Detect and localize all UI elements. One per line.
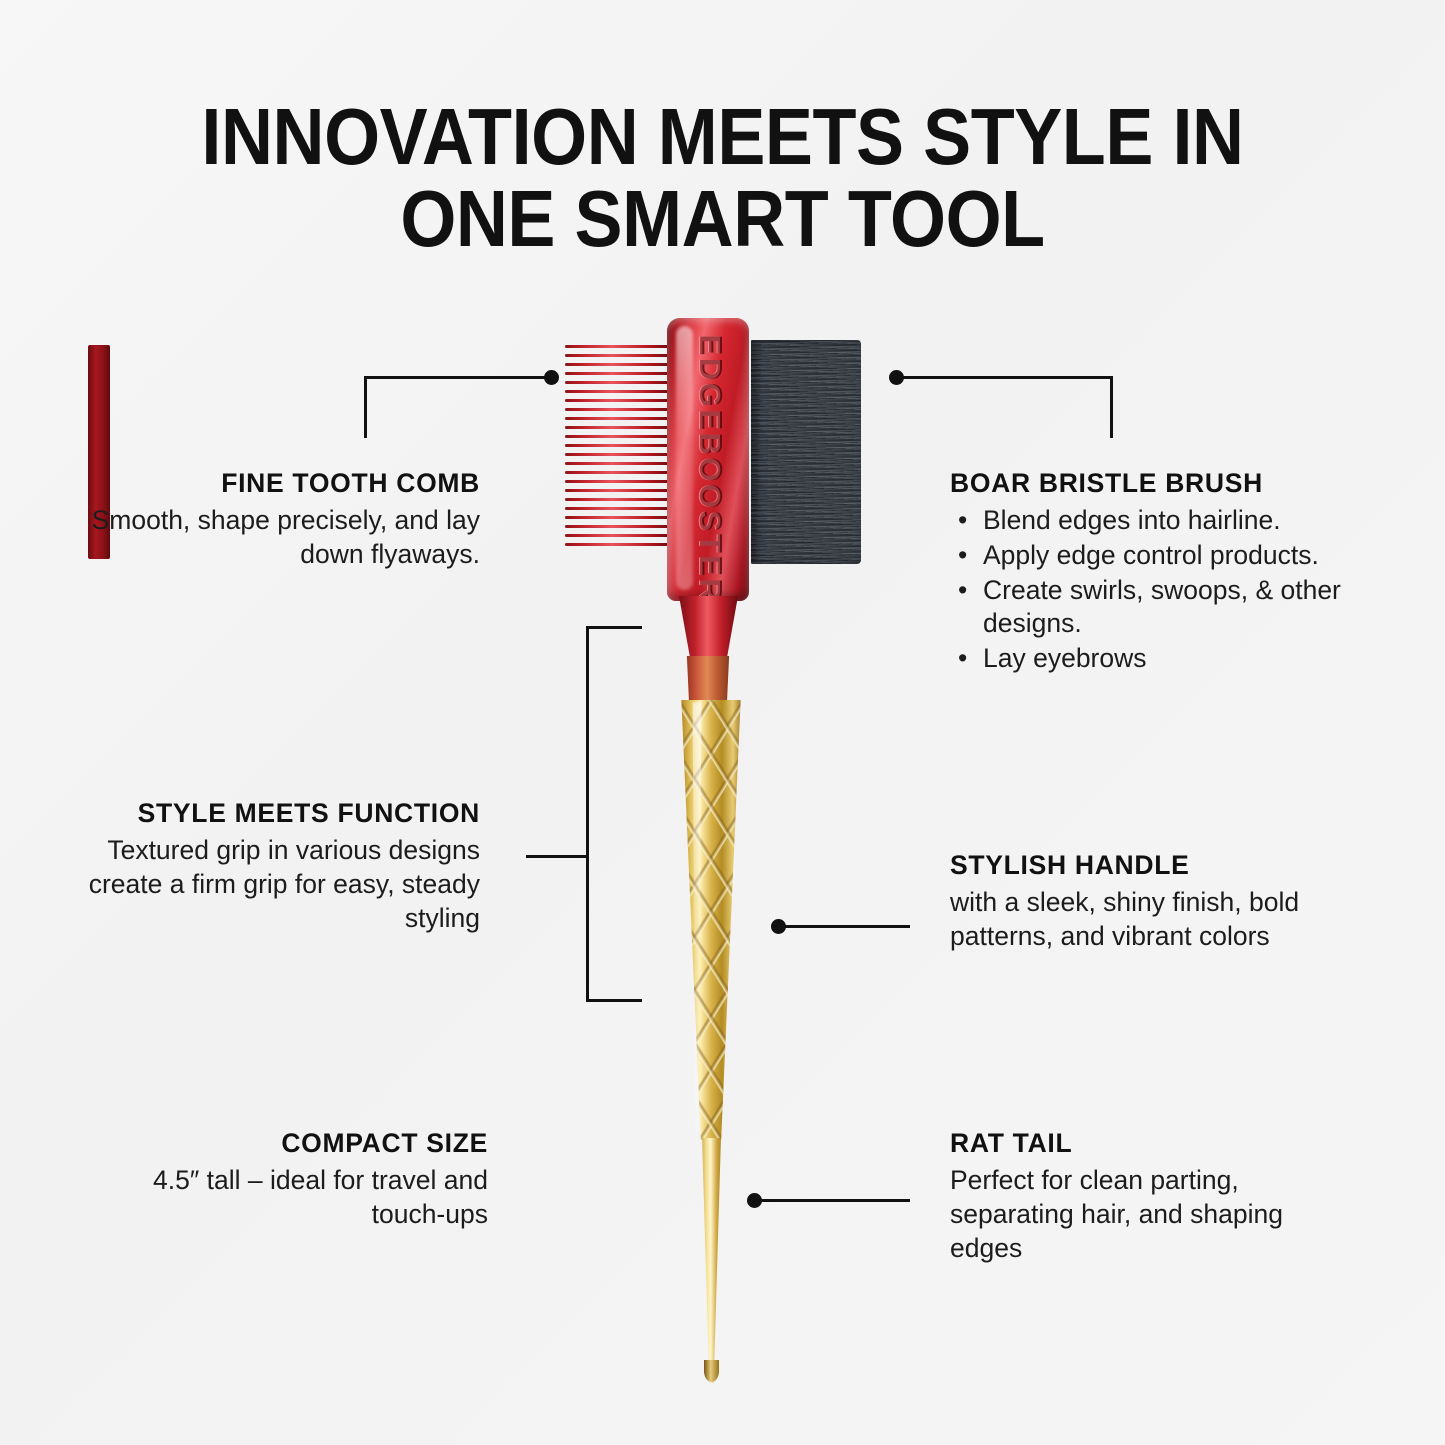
head-highlight <box>676 326 693 590</box>
list-item: • Create swirls, swoops, & other designs… <box>950 574 1370 642</box>
comb-tooth <box>565 462 670 465</box>
callout-heading-stylish-handle: STYLISH HANDLE <box>950 850 1350 881</box>
comb-tooth <box>565 525 670 528</box>
list-item: • Apply edge control products. <box>950 539 1370 573</box>
callout-rat-tail: RAT TAIL Perfect for clean parting, sepa… <box>950 1128 1310 1265</box>
comb-tooth <box>565 399 670 402</box>
handle-neck-upper <box>679 596 738 662</box>
list-item-label: Create swirls, swoops, & other designs. <box>983 575 1341 639</box>
comb-tooth <box>565 390 670 393</box>
page-title: INNOVATION MEETS STYLE IN ONE SMART TOOL <box>72 96 1373 259</box>
leader-bracket-stem-grip <box>526 855 588 858</box>
rat-tail-tip <box>704 1360 719 1382</box>
comb-tooth <box>565 345 670 348</box>
callout-body-rat-tail: Perfect for clean parting, separating ha… <box>950 1164 1310 1266</box>
comb-tooth <box>565 543 670 546</box>
callout-body-fine-tooth-comb: Smooth, shape precisely, and lay down fl… <box>60 504 480 572</box>
callout-bullet-list-boar-bristle-brush: • Blend edges into hairline. • Apply edg… <box>950 504 1370 677</box>
list-item-label: Blend edges into hairline. <box>983 505 1281 535</box>
list-item: • Lay eyebrows <box>950 642 1370 676</box>
comb-tooth <box>565 408 670 411</box>
leader-bracket-spine-grip <box>586 626 589 1002</box>
handle-neck-lower <box>684 656 732 718</box>
bullet-icon: • <box>958 574 967 608</box>
callout-heading-boar-bristle-brush: BOAR BRISTLE BRUSH <box>950 468 1370 499</box>
callout-fine-tooth-comb: FINE TOOTH COMB Smooth, shape precisely,… <box>60 468 480 572</box>
comb-tooth <box>565 381 670 384</box>
brand-logo-text: EDGEBOOSTER <box>688 327 728 611</box>
leader-line-brush-vertical <box>1110 376 1113 438</box>
fine-tooth-comb-teeth <box>565 345 670 553</box>
comb-tooth <box>565 417 670 420</box>
comb-tooth <box>565 426 670 429</box>
handle-diamond-pattern <box>672 700 750 1140</box>
title-line-2: ONE SMART TOOL <box>72 178 1373 260</box>
comb-tooth <box>565 372 670 375</box>
comb-tooth <box>565 534 670 537</box>
callout-body-stylish-handle: with a sleek, shiny finish, bold pattern… <box>950 886 1350 954</box>
leader-line-rat-tail <box>754 1199 910 1202</box>
callout-heading-fine-tooth-comb: FINE TOOTH COMB <box>60 468 480 499</box>
comb-tooth <box>565 489 670 492</box>
callout-compact-size: COMPACT SIZE 4.5″ tall – ideal for trave… <box>140 1128 488 1232</box>
comb-tooth <box>565 480 670 483</box>
comb-tooth <box>565 363 670 366</box>
list-item-label: Lay eyebrows <box>983 643 1147 673</box>
title-line-1: INNOVATION MEETS STYLE IN <box>201 92 1243 181</box>
comb-tooth <box>565 507 670 510</box>
leader-line-comb-vertical <box>364 376 367 438</box>
handle-shaft <box>672 700 750 1140</box>
brush-head-body: EDGEBOOSTER <box>667 318 749 601</box>
bullet-icon: • <box>958 642 967 676</box>
callout-heading-style-meets-function: STYLE MEETS FUNCTION <box>56 798 480 829</box>
callout-stylish-handle: STYLISH HANDLE with a sleek, shiny finis… <box>950 850 1350 954</box>
leader-bracket-bottom-grip <box>586 999 642 1002</box>
callout-style-meets-function: STYLE MEETS FUNCTION Textured grip in va… <box>56 798 480 935</box>
list-item: • Blend edges into hairline. <box>950 504 1370 538</box>
comb-tooth <box>565 354 670 357</box>
comb-tooth <box>565 435 670 438</box>
infographic-canvas: INNOVATION MEETS STYLE IN ONE SMART TOOL… <box>0 0 1445 1445</box>
leader-line-brush-horizontal <box>896 376 1112 379</box>
bullet-icon: • <box>958 504 967 538</box>
leader-line-handle <box>778 925 910 928</box>
rat-tail-point <box>690 1138 733 1383</box>
leader-line-comb-horizontal <box>364 376 548 379</box>
comb-tooth <box>565 453 670 456</box>
callout-body-compact-size: 4.5″ tall – ideal for travel and touch-u… <box>140 1164 488 1232</box>
comb-tooth <box>565 516 670 519</box>
leader-bracket-top-grip <box>586 626 642 629</box>
comb-tooth <box>565 444 670 447</box>
boar-bristle-tuft <box>751 340 861 564</box>
list-item-label: Apply edge control products. <box>983 540 1319 570</box>
bullet-icon: • <box>958 539 967 573</box>
comb-tooth <box>565 471 670 474</box>
callout-body-style-meets-function: Textured grip in various designs create … <box>56 834 480 936</box>
callout-heading-compact-size: COMPACT SIZE <box>140 1128 488 1159</box>
handle-highlight <box>690 702 704 1132</box>
comb-tooth <box>565 498 670 501</box>
callout-boar-bristle-brush: BOAR BRISTLE BRUSH • Blend edges into ha… <box>950 468 1370 677</box>
callout-heading-rat-tail: RAT TAIL <box>950 1128 1310 1159</box>
